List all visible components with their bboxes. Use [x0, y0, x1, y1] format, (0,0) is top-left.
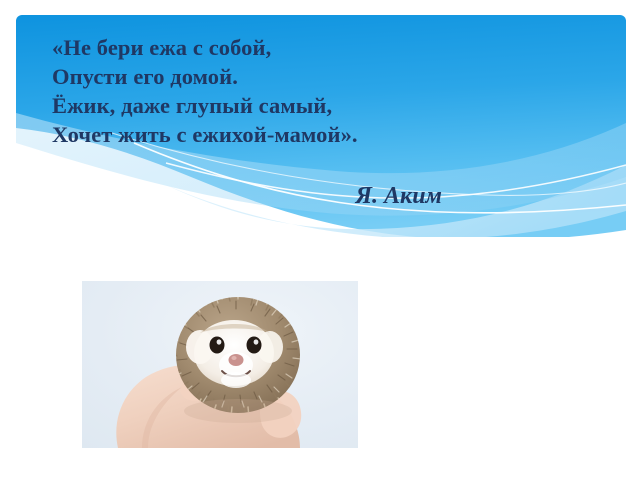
hedgehog-in-hand-photo	[82, 281, 358, 448]
quote-line-2: Опусти его домой.	[52, 62, 592, 91]
quote-attribution: Я. Аким	[52, 182, 442, 210]
quote-text-block: «Не бери ежа с собой, Опусти его домой. …	[52, 33, 592, 149]
hedgehog-nose	[229, 354, 244, 366]
hedgehog-eye-right	[247, 337, 262, 354]
quote-line-3: Ёжик, даже глупый самый,	[52, 91, 592, 120]
hedgehog-eye-left	[210, 337, 225, 354]
quote-line-1: «Не бери ежа с собой,	[52, 33, 592, 62]
quote-line-4: Хочет жить с ежихой-мамой».	[52, 120, 592, 149]
slide-canvas: «Не бери ежа с собой, Опусти его домой. …	[0, 0, 640, 480]
